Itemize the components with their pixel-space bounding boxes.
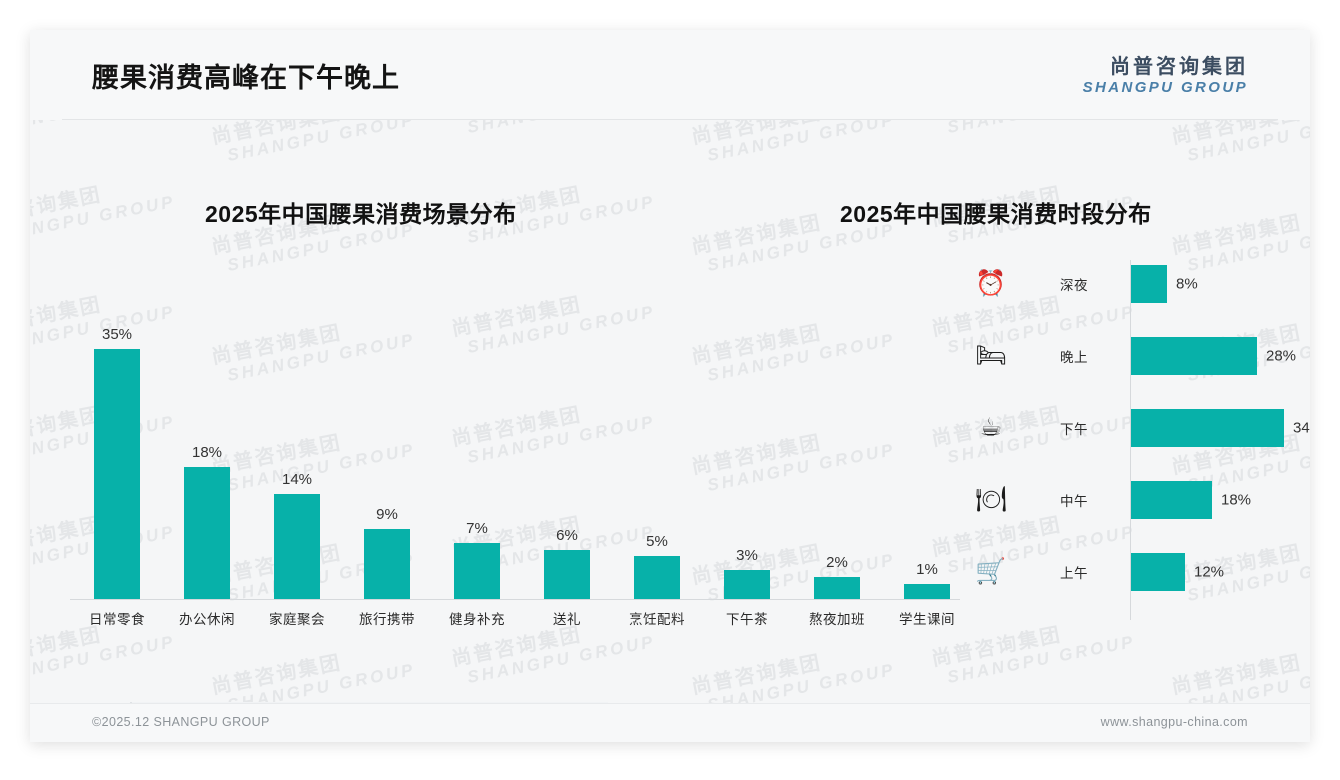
bar-value-label: 9% <box>342 506 432 523</box>
bar-row: 🛏晚上28% <box>960 336 1290 376</box>
bar-group: 14%家庭聚会 <box>252 270 342 600</box>
bar-group: 6%送礼 <box>522 270 612 600</box>
logo-english-text: SHANGPU GROUP <box>1083 79 1248 97</box>
page-title: 腰果消费高峰在下午晚上 <box>92 56 400 95</box>
bar[interactable] <box>724 570 770 599</box>
bar-value-label: 35% <box>72 326 162 343</box>
brand-logo: 尚普咨询集团 SHANGPU GROUP <box>1083 56 1248 97</box>
bar-category-label: 上午 <box>1060 562 1088 582</box>
slide-footer: ©2025.12 SHANGPU GROUP www.shangpu-china… <box>30 703 1310 742</box>
bar-row: ☕下午34% <box>960 408 1290 448</box>
bar[interactable] <box>184 467 230 599</box>
bar[interactable] <box>454 543 500 599</box>
bar-category-label: 送礼 <box>522 608 612 628</box>
bar-group: 35%日常零食 <box>72 270 162 600</box>
slide-header: 腰果消费高峰在下午晚上 尚普咨询集团 SHANGPU GROUP <box>30 30 1310 120</box>
bar[interactable] <box>1131 409 1284 447</box>
bar-value-label: 3% <box>702 547 792 564</box>
bar[interactable] <box>904 584 950 599</box>
bar-value-label: 1% <box>882 561 972 578</box>
bar-value-label: 34% <box>1293 420 1310 437</box>
bar-value-label: 14% <box>252 471 342 488</box>
bar[interactable] <box>814 577 860 599</box>
bar-category-label: 下午茶 <box>702 608 792 628</box>
slide-card: 尚普咨询集团SHANGPU GROUP尚普咨询集团SHANGPU GROUP尚普… <box>30 30 1310 742</box>
bar-category-label: 烹饪配料 <box>612 608 702 628</box>
bar-group: 5%烹饪配料 <box>612 270 702 600</box>
bar-value-label: 2% <box>792 554 882 571</box>
chart-title-timeslots: 2025年中国腰果消费时段分布 <box>840 195 1152 229</box>
shopping-cart-icon: 🛒 <box>974 560 1008 585</box>
chart-title-scenes: 2025年中国腰果消费场景分布 <box>205 195 517 229</box>
bar-category-label: 健身补充 <box>432 608 522 628</box>
bar-value-label: 18% <box>1221 492 1251 509</box>
alarm-clock-icon: ⏰ <box>974 272 1008 297</box>
bar-category-label: 学生课间 <box>882 608 972 628</box>
vertical-bar-chart: 35%日常零食18%办公休闲14%家庭聚会9%旅行携带7%健身补充6%送礼5%烹… <box>60 270 960 600</box>
bar-value-label: 12% <box>1194 564 1224 581</box>
bar-row: 🍽中午18% <box>960 480 1290 520</box>
bar-group: 18%办公休闲 <box>162 270 252 600</box>
hot-beverage-icon: ☕ <box>974 416 1008 441</box>
bar-value-label: 5% <box>612 533 702 550</box>
bar-row: ⏰深夜8% <box>960 264 1290 304</box>
bar-category-label: 下午 <box>1060 418 1088 438</box>
bar-value-label: 18% <box>162 444 252 461</box>
bar-group: 7%健身补充 <box>432 270 522 600</box>
bar[interactable] <box>1131 265 1167 303</box>
bar[interactable] <box>1131 337 1257 375</box>
horizontal-bar-chart: ⏰深夜8%🛏晚上28%☕下午34%🍽中午18%🛒上午12% <box>960 260 1290 630</box>
bar[interactable] <box>364 529 410 599</box>
slide-content: 2025年中国腰果消费场景分布 2025年中国腰果消费时段分布 35%日常零食1… <box>30 120 1310 680</box>
bar[interactable] <box>274 494 320 599</box>
bar-group: 9%旅行携带 <box>342 270 432 600</box>
plate-cutlery-icon: 🍽 <box>974 488 1008 513</box>
bar-category-label: 办公休闲 <box>162 608 252 628</box>
bar-row: 🛒上午12% <box>960 552 1290 592</box>
bar-category-label: 家庭聚会 <box>252 608 342 628</box>
bar-group: 3%下午茶 <box>702 270 792 600</box>
bar[interactable] <box>1131 553 1185 591</box>
bar-category-label: 旅行携带 <box>342 608 432 628</box>
bar-group: 1%学生课间 <box>882 270 972 600</box>
bar-value-label: 28% <box>1266 348 1296 365</box>
bar-category-label: 深夜 <box>1060 274 1088 294</box>
copyright-text: ©2025.12 SHANGPU GROUP <box>92 715 270 729</box>
bar[interactable] <box>544 550 590 599</box>
bar-value-label: 7% <box>432 520 522 537</box>
bar-category-label: 中午 <box>1060 490 1088 510</box>
bar[interactable] <box>1131 481 1212 519</box>
bar-category-label: 晚上 <box>1060 346 1088 366</box>
bed-icon: 🛏 <box>974 344 1008 369</box>
bar-value-label: 8% <box>1176 276 1198 293</box>
bar-category-label: 日常零食 <box>72 608 162 628</box>
website-link[interactable]: www.shangpu-china.com <box>1101 715 1248 729</box>
bar[interactable] <box>94 349 140 599</box>
bar-group: 2%熬夜加班 <box>792 270 882 600</box>
bar[interactable] <box>634 556 680 599</box>
bar-category-label: 熬夜加班 <box>792 608 882 628</box>
logo-chinese-text: 尚普咨询集团 <box>1083 56 1248 79</box>
bar-value-label: 6% <box>522 527 612 544</box>
